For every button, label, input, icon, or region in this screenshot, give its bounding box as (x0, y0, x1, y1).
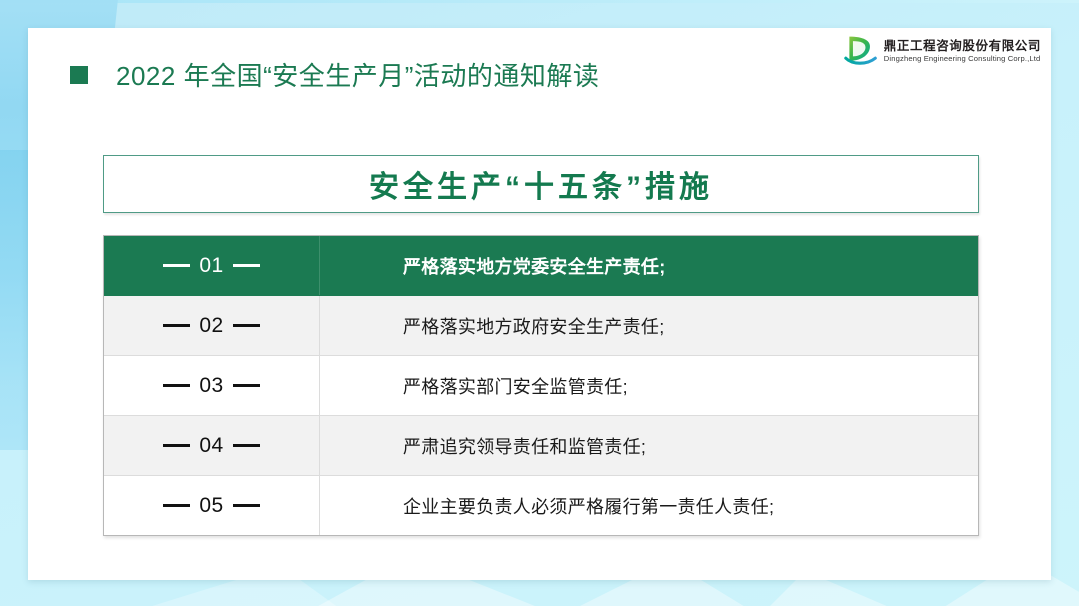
table-row[interactable]: 05 企业主要负责人必须严格履行第一责任人责任; (104, 476, 978, 535)
table-row-number-cell: 01 (104, 236, 320, 295)
table-row-number: 02 (199, 314, 223, 338)
dash-right-icon (233, 504, 260, 507)
background-top-line (0, 0, 1079, 3)
table-row[interactable]: 03 严格落实部门安全监管责任; (104, 356, 978, 416)
page-header: 2022 年全国“安全生产月”活动的通知解读 (28, 28, 1051, 140)
table-row-text: 严肃追究领导责任和监管责任; (403, 433, 646, 459)
company-logo-text: 鼎正工程咨询股份有限公司 Dingzheng Engineering Consu… (884, 39, 1041, 63)
dash-left-icon (163, 504, 190, 507)
table-row-number: 04 (199, 434, 223, 458)
table-row-number-cell: 02 (104, 296, 320, 355)
number-decoration: 04 (163, 434, 259, 458)
table-row-text-cell: 企业主要负责人必须严格履行第一责任人责任; (320, 476, 978, 535)
page-title-block: 2022 年全国“安全生产月”活动的通知解读 (70, 56, 599, 93)
table-row-number-cell: 05 (104, 476, 320, 535)
table-row-text-cell: 严格落实地方政府安全生产责任; (320, 296, 978, 355)
table-row-text: 严格落实地方政府安全生产责任; (403, 313, 665, 339)
dash-right-icon (233, 444, 260, 447)
number-decoration: 02 (163, 314, 259, 338)
dash-right-icon (233, 324, 260, 327)
dash-right-icon (233, 264, 260, 267)
page-title: 2022 年全国“安全生产月”活动的通知解读 (116, 56, 599, 93)
number-decoration: 01 (163, 254, 259, 278)
table-row-text-cell: 严格落实部门安全监管责任; (320, 356, 978, 415)
number-decoration: 05 (163, 494, 259, 518)
table-row-text-cell: 严肃追究领导责任和监管责任; (320, 416, 978, 475)
company-logo: 鼎正工程咨询股份有限公司 Dingzheng Engineering Consu… (843, 34, 1041, 68)
content-panel: 2022 年全国“安全生产月”活动的通知解读 (28, 28, 1051, 580)
headline-box: 安全生产“十五条”措施 (103, 155, 979, 213)
table-row-text: 严格落实部门安全监管责任; (403, 373, 628, 399)
table-row[interactable]: 02 严格落实地方政府安全生产责任; (104, 296, 978, 356)
slide-canvas: 2022 年全国“安全生产月”活动的通知解读 (0, 0, 1079, 606)
dash-left-icon (163, 384, 190, 387)
square-bullet-icon (70, 66, 88, 84)
table-row-text: 严格落实地方党委安全生产责任; (403, 253, 666, 279)
company-name-en: Dingzheng Engineering Consulting Corp.,L… (884, 54, 1041, 63)
measures-table: 01 严格落实地方党委安全生产责任; 02 严格落实地 (103, 235, 979, 536)
table-row[interactable]: 04 严肃追究领导责任和监管责任; (104, 416, 978, 476)
table-row[interactable]: 01 严格落实地方党委安全生产责任; (104, 236, 978, 296)
table-row-number: 03 (199, 374, 223, 398)
dash-left-icon (163, 264, 190, 267)
dash-right-icon (233, 384, 260, 387)
table-row-number: 05 (199, 494, 223, 518)
dash-left-icon (163, 444, 190, 447)
dingzheng-d-logo-mark-icon (843, 34, 879, 68)
table-row-number: 01 (199, 254, 223, 278)
table-row-text-cell: 严格落实地方党委安全生产责任; (320, 236, 978, 295)
number-decoration: 03 (163, 374, 259, 398)
table-row-number-cell: 04 (104, 416, 320, 475)
headline-text: 安全生产“十五条”措施 (369, 162, 713, 206)
table-row-text: 企业主要负责人必须严格履行第一责任人责任; (403, 493, 774, 519)
table-row-number-cell: 03 (104, 356, 320, 415)
company-name-cn: 鼎正工程咨询股份有限公司 (884, 39, 1041, 54)
dash-left-icon (163, 324, 190, 327)
